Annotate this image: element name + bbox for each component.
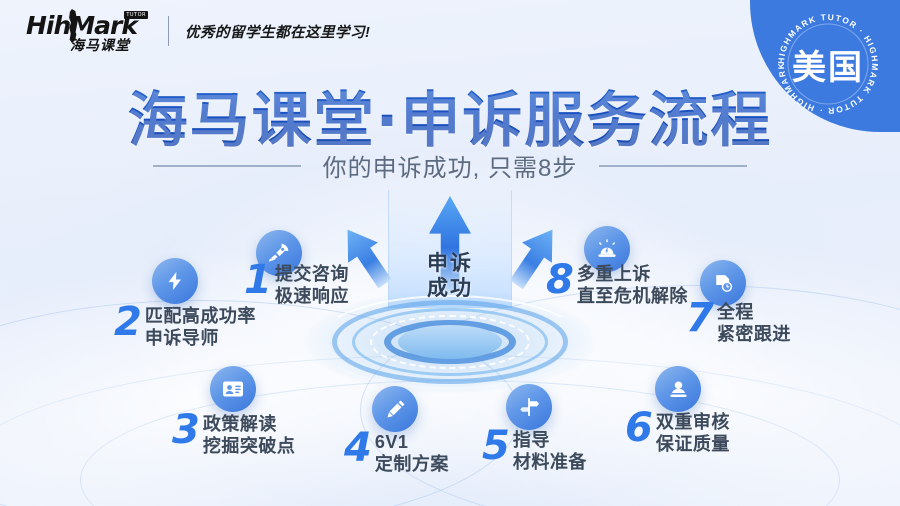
step-2-line2: 申诉导师 xyxy=(145,328,256,350)
brand-tagline: 优秀的留学生都在这里学习! xyxy=(185,21,370,42)
step-7-line2: 紧密跟进 xyxy=(717,324,791,346)
step-2-text: 2 匹配高成功率 申诉导师 xyxy=(114,304,256,349)
step-6-line1: 双重审核 xyxy=(656,412,730,434)
step-2-number: 2 xyxy=(114,304,142,341)
step-7-number: 7 xyxy=(686,300,714,337)
step-6-line2: 保证质量 xyxy=(656,434,730,456)
logo-mark: HihMark TUTOR 海马课堂 xyxy=(26,9,146,53)
step-3-line2: 挖掘突破点 xyxy=(203,436,296,458)
subtitle-rule-right xyxy=(599,165,747,167)
step-6-number: 6 xyxy=(625,410,653,447)
logo-tutor-tag: TUTOR xyxy=(124,11,148,19)
platform-core xyxy=(398,325,502,359)
pen-icon xyxy=(372,386,418,432)
step-6-text: 6 双重审核 保证质量 xyxy=(625,410,730,455)
step-8-line1: 多重上诉 xyxy=(577,264,688,286)
step-2-line1: 匹配高成功率 xyxy=(145,306,256,328)
subtitle-row: 你的申诉成功, 只需8步 xyxy=(0,148,900,183)
step-4-text: 4 6V1 定制方案 xyxy=(344,430,449,475)
hub-label-line1: 申诉 xyxy=(330,252,570,277)
step-5-text: 5 指导 材料准备 xyxy=(482,428,587,473)
step-4-line1: 6V1 xyxy=(375,432,449,454)
header-divider xyxy=(168,16,169,46)
hub-label: 申诉 成功 xyxy=(330,252,570,302)
step-4-number: 4 xyxy=(344,430,372,467)
step-7-line1: 全程 xyxy=(717,302,791,324)
hub-label-line2: 成功 xyxy=(330,277,570,302)
id-card-icon xyxy=(210,366,256,412)
header-bar: HihMark TUTOR 海马课堂 优秀的留学生都在这里学习! HIGHMAR… xyxy=(0,0,900,62)
lightning-icon xyxy=(152,258,198,304)
step-4-line2: 定制方案 xyxy=(375,454,449,476)
infographic-canvas: HihMark TUTOR 海马课堂 优秀的留学生都在这里学习! HIGHMAR… xyxy=(0,0,900,506)
center-hub: 申诉 成功 xyxy=(330,190,570,380)
subtitle-rule-left xyxy=(153,165,301,167)
step-5-line2: 材料准备 xyxy=(513,452,587,474)
brand-logo: HihMark TUTOR 海马课堂 优秀的留学生都在这里学习! xyxy=(26,9,370,53)
stamp-icon xyxy=(655,366,701,412)
page-subtitle: 你的申诉成功, 只需8步 xyxy=(323,148,578,183)
page-title: 海马课堂·申诉服务流程 xyxy=(0,72,900,159)
step-1-number: 1 xyxy=(244,262,272,299)
step-3-number: 3 xyxy=(172,412,200,449)
step-3-line1: 政策解读 xyxy=(203,414,296,436)
step-8-line2: 直至危机解除 xyxy=(577,286,688,308)
step-5-line1: 指导 xyxy=(513,430,587,452)
signpost-icon xyxy=(506,384,552,430)
step-3-text: 3 政策解读 挖掘突破点 xyxy=(172,412,295,457)
step-7-text: 7 全程 紧密跟进 xyxy=(686,300,791,345)
step-5-number: 5 xyxy=(482,428,510,465)
logo-chinese-name: 海马课堂 xyxy=(70,35,130,55)
